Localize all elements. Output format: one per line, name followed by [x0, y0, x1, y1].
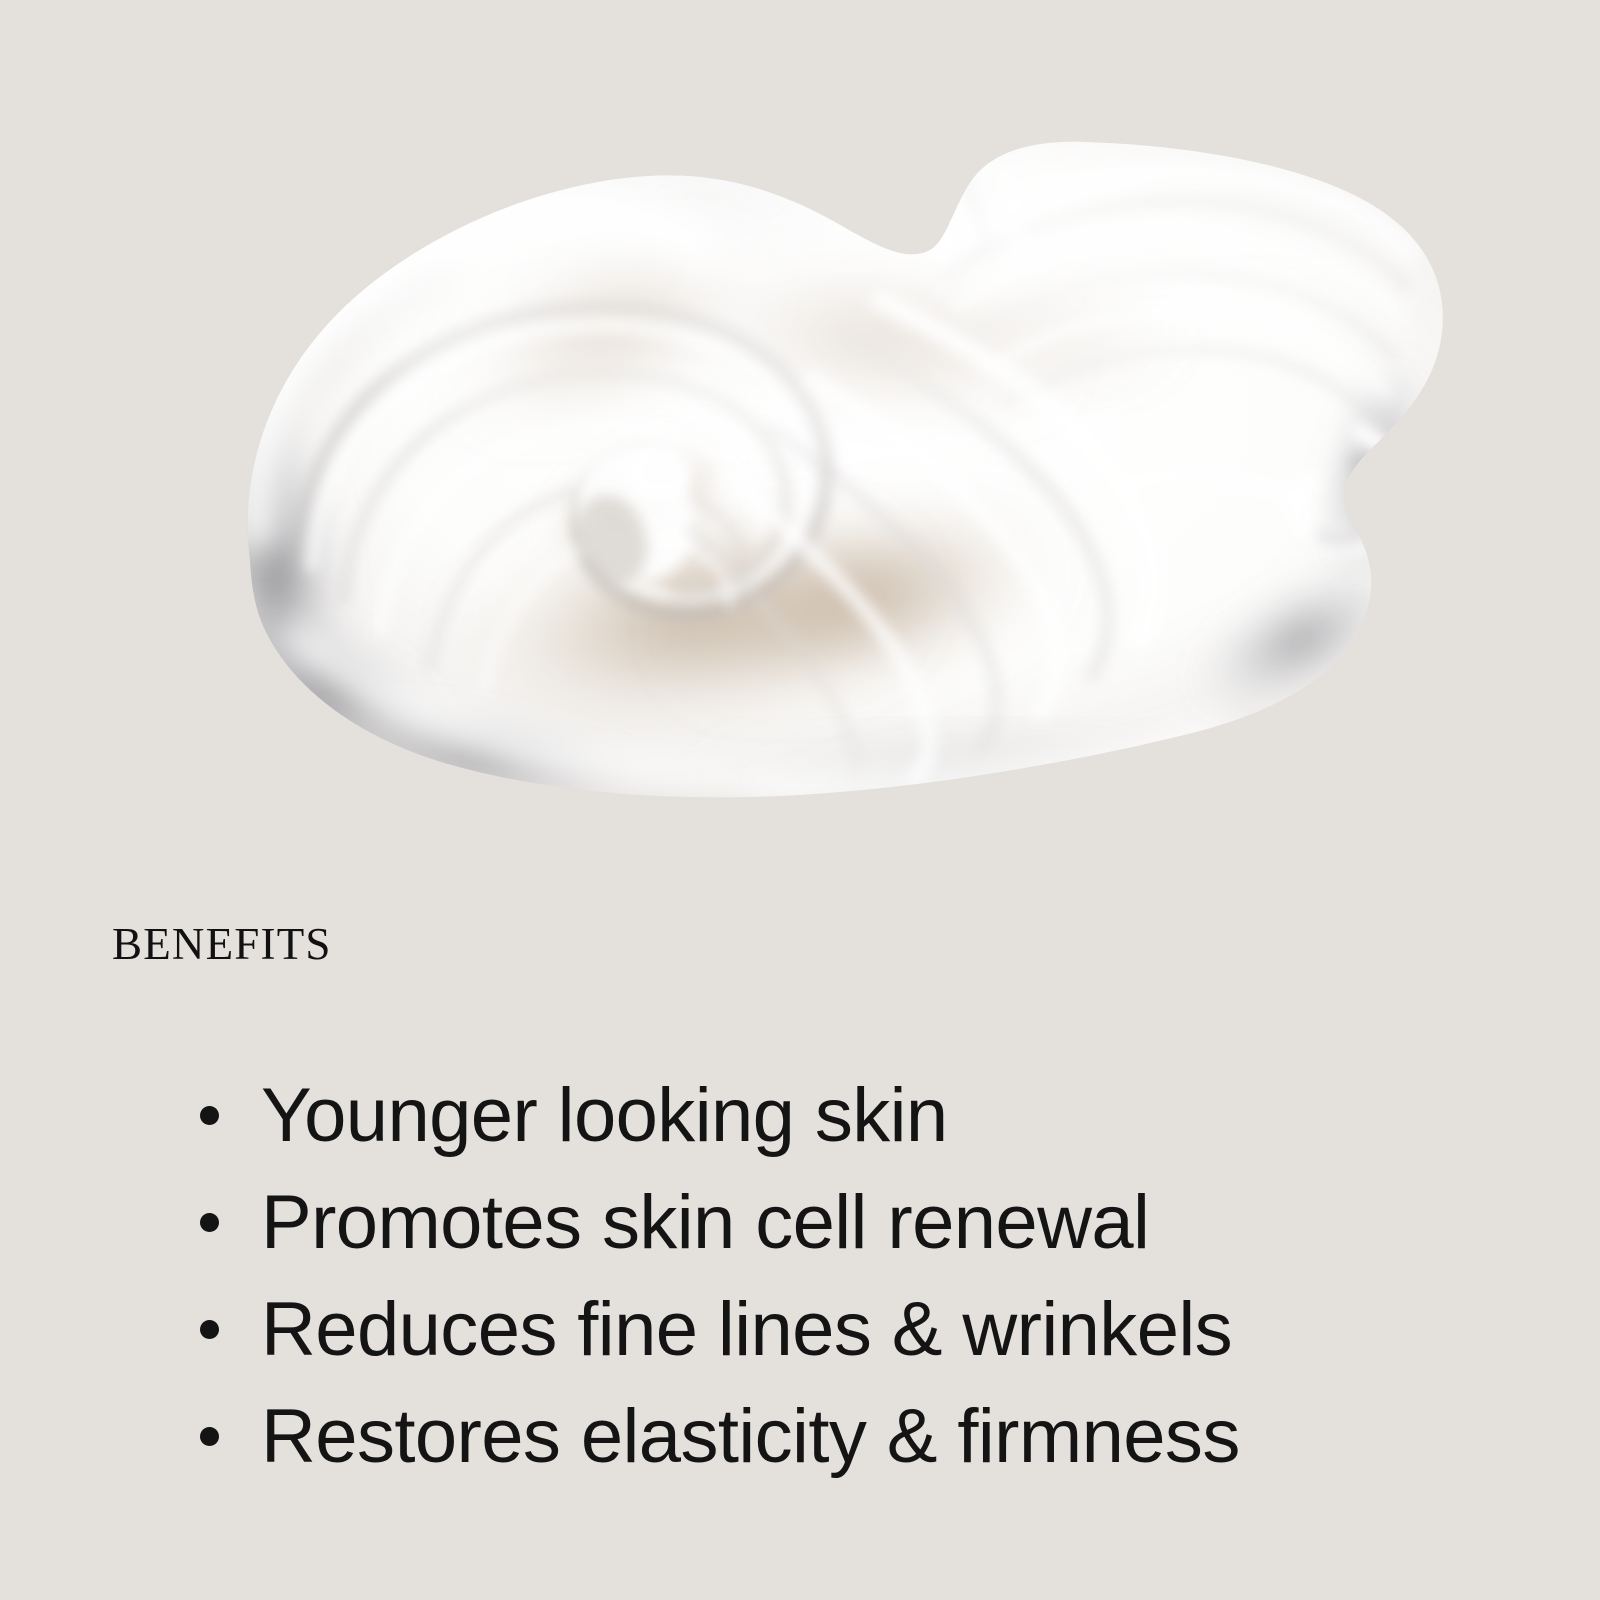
benefit-label: Promotes skin cell renewal: [261, 1169, 1149, 1276]
cream-swatch-image: [0, 0, 1600, 840]
benefit-label: Restores elasticity & firmness: [261, 1383, 1240, 1490]
list-item: Promotes skin cell renewal: [200, 1169, 1240, 1276]
bullet-icon: [200, 1427, 219, 1446]
product-benefits-card: BENEFITS Younger looking skin Promotes s…: [0, 0, 1600, 1600]
list-item: Reduces fine lines & wrinkels: [200, 1276, 1240, 1383]
bullet-icon: [200, 1320, 219, 1339]
bullet-icon: [200, 1213, 219, 1232]
benefits-list: Younger looking skin Promotes skin cell …: [200, 1062, 1240, 1490]
list-item: Restores elasticity & firmness: [200, 1383, 1240, 1490]
benefit-label: Younger looking skin: [261, 1062, 948, 1169]
list-item: Younger looking skin: [200, 1062, 1240, 1169]
benefit-label: Reduces fine lines & wrinkels: [261, 1276, 1232, 1383]
bullet-icon: [200, 1106, 219, 1125]
benefits-heading: BENEFITS: [112, 922, 332, 967]
